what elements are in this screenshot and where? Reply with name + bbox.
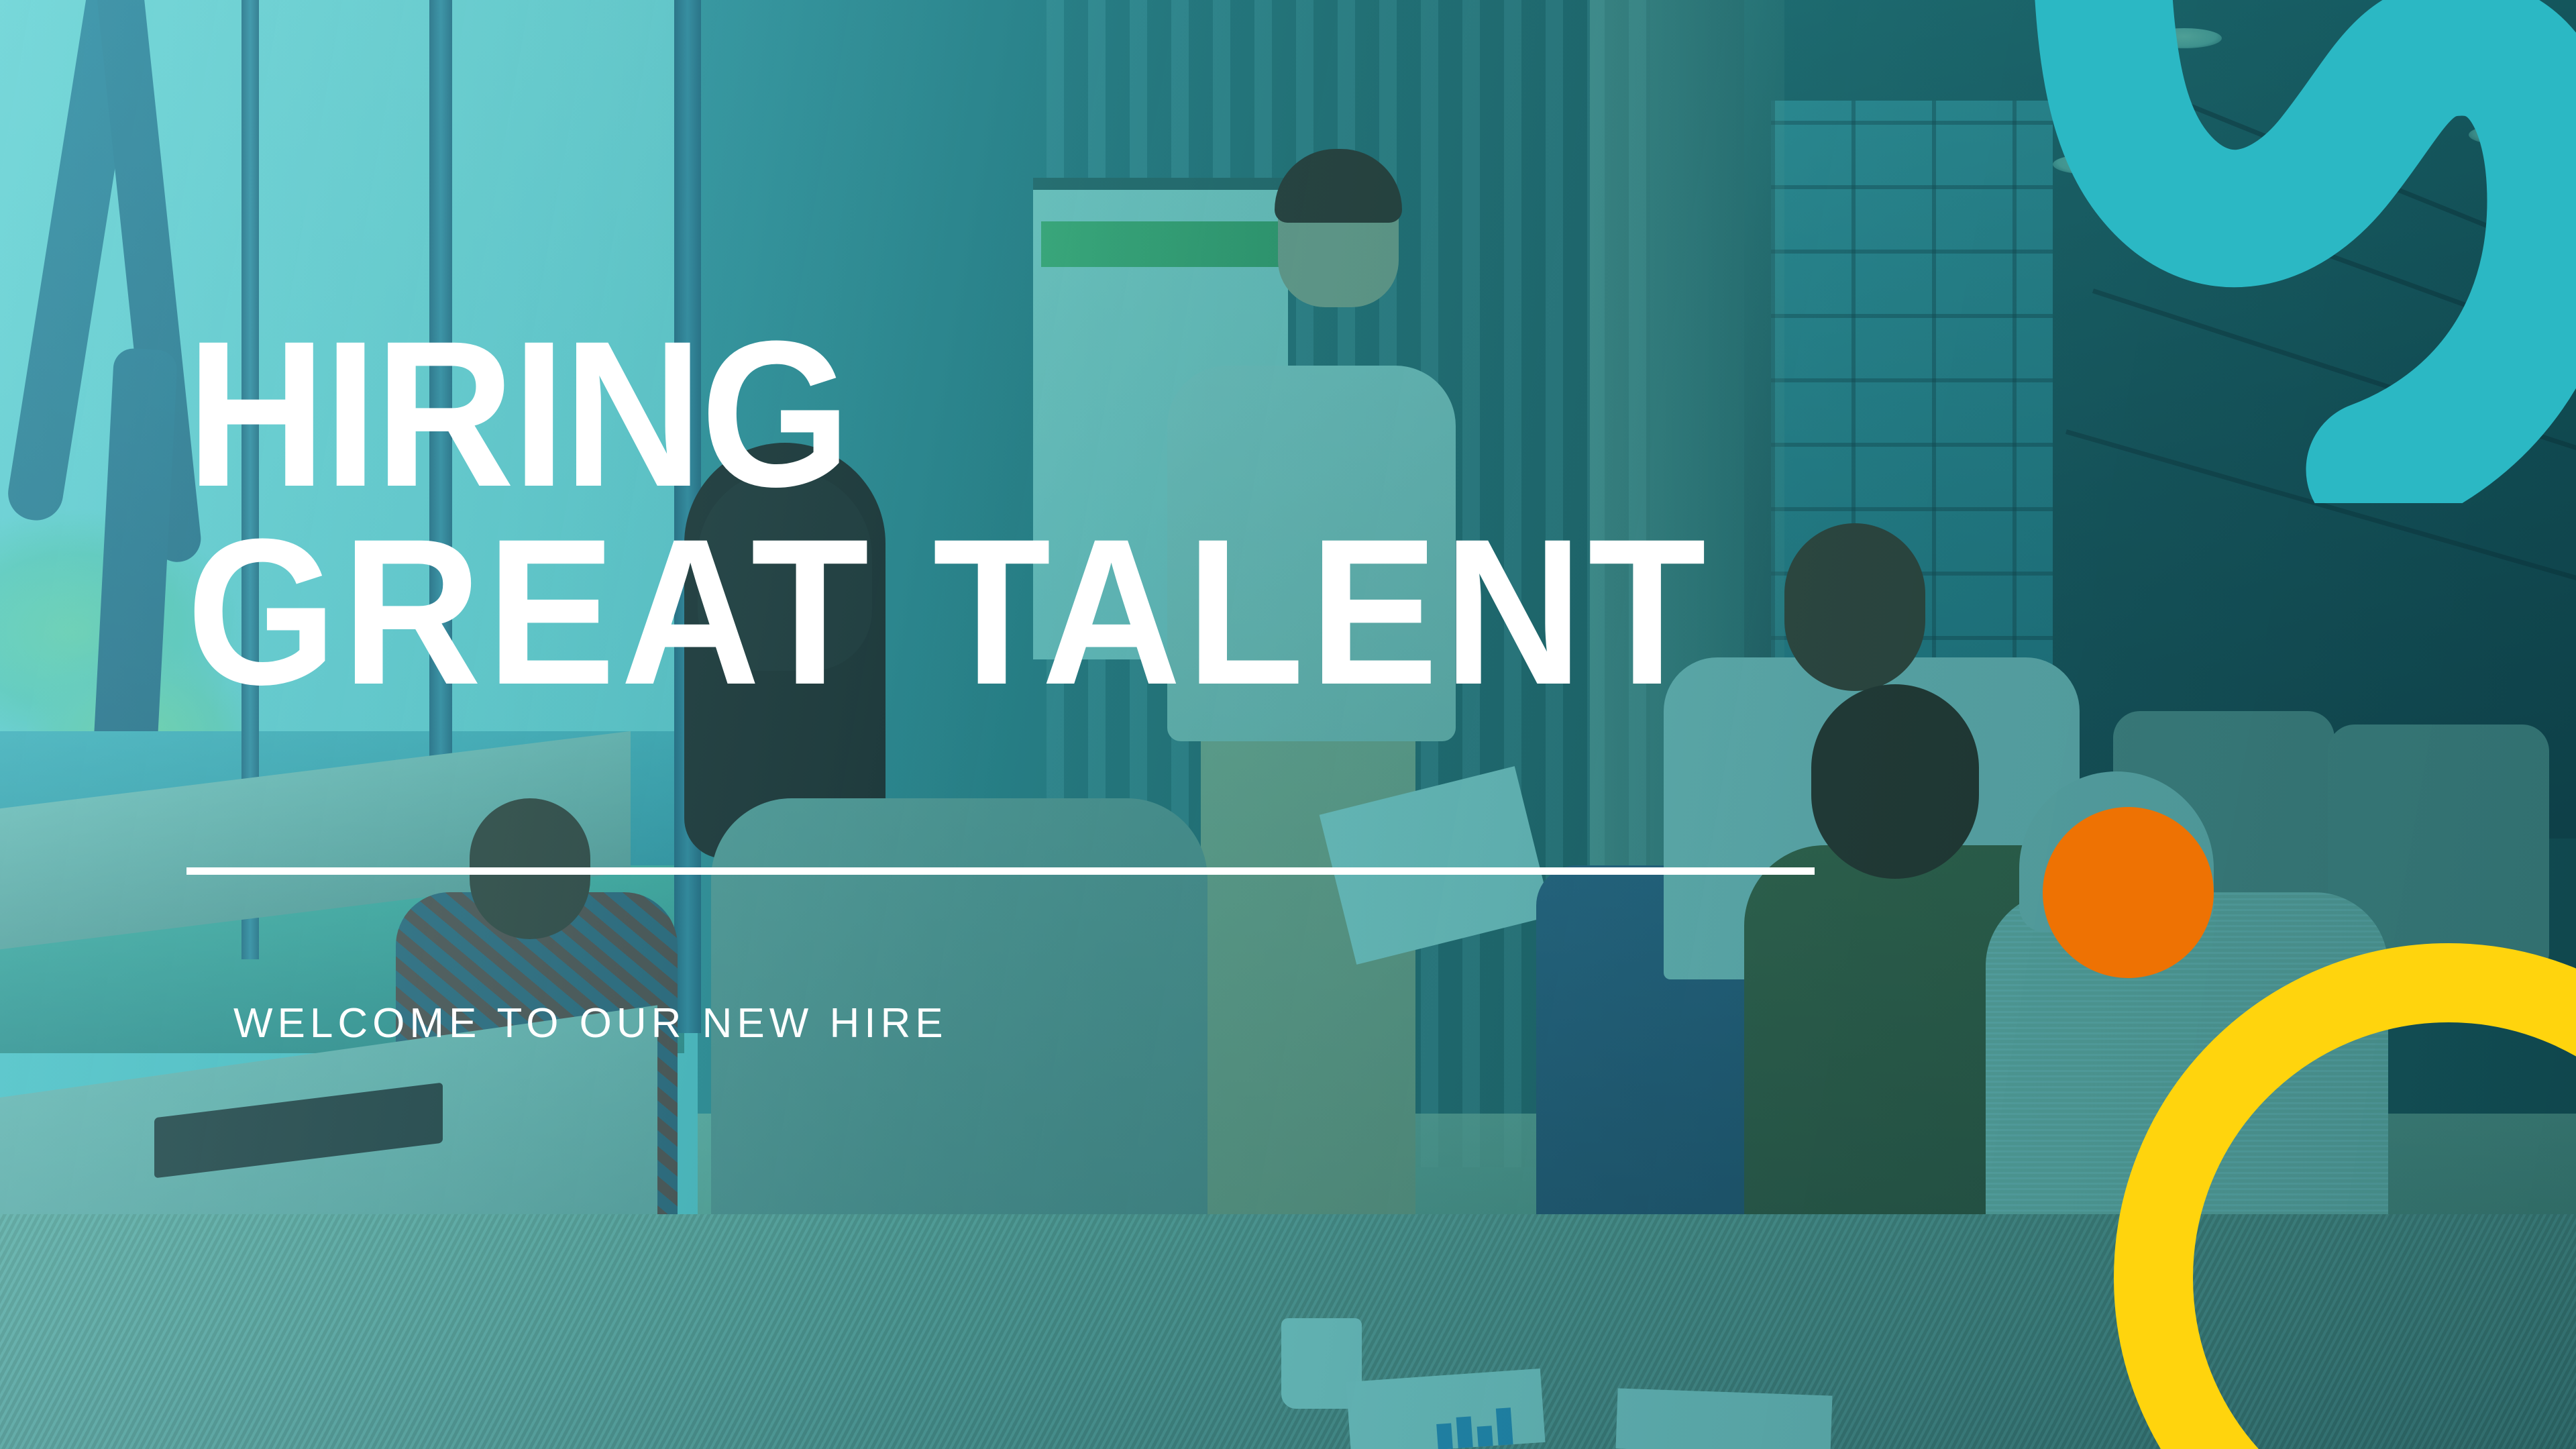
headline-block: HIRING GREAT TALENT (186, 315, 2199, 710)
headline-line-2: GREAT TALENT (186, 513, 2058, 711)
yellow-arc-ring-icon (2113, 943, 2576, 1449)
white-divider-rule (186, 867, 1815, 875)
subtitle-text: WELCOME TO OUR NEW HIRE (233, 1000, 948, 1047)
headline-line-1: HIRING (186, 315, 2058, 513)
hiring-banner: HIRING GREAT TALENT WELCOME TO OUR NEW H… (0, 0, 2576, 1449)
